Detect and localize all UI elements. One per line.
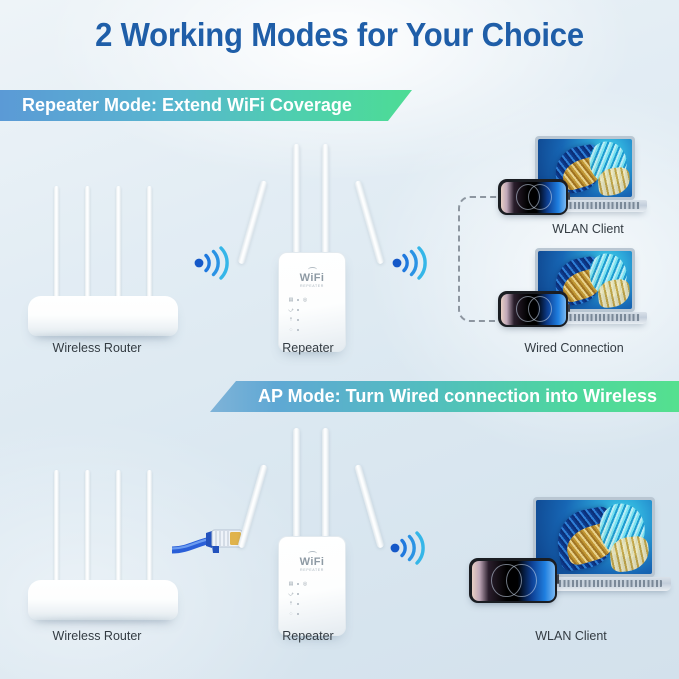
caption-repeater-ap-mode: Repeater: [282, 629, 333, 643]
repeater-mode-banner: Repeater Mode: Extend WiFi Coverage: [0, 90, 412, 121]
wifi-signal-icon: [390, 246, 432, 280]
wifi-extender-icon: WiFi REPEATER ▤◎ ⤻ ⇡ ◌: [255, 144, 367, 329]
led-row: ◌: [288, 327, 308, 333]
repeater-mode-banner-label: Repeater Mode: Extend WiFi Coverage: [22, 95, 352, 115]
phone-icon: [469, 558, 557, 603]
caption-wired-connection: Wired Connection: [524, 341, 623, 355]
router-icon: [28, 186, 178, 321]
caption-wlan-client-ap-mode: WLAN Client: [535, 629, 607, 643]
caption-wireless-router-repeater: Wireless Router: [53, 341, 142, 355]
router-icon: [28, 470, 178, 605]
repeater-logo: WiFi REPEATER: [279, 551, 345, 572]
repeater-led-indicators: ▤◎ ⤻ ⇡ ◌: [288, 581, 308, 621]
ap-mode-banner: AP Mode: Turn Wired connection into Wire…: [210, 381, 679, 412]
page-title: 2 Working Modes for Your Choice: [20, 16, 658, 54]
phone-icon: [498, 291, 568, 327]
repeater-led-indicators: ▤◎ ⤻ ⇡ ◌: [288, 297, 308, 337]
led-row: ⇡: [288, 317, 308, 323]
led-row: ▤◎: [288, 297, 308, 303]
caption-wireless-router-ap: Wireless Router: [53, 629, 142, 643]
led-row: ◌: [288, 611, 308, 617]
led-row: ⇡: [288, 601, 308, 607]
wifi-extender-icon: WiFi REPEATER ▤◎ ⤻ ⇡ ◌: [255, 428, 367, 613]
infographic-canvas: 2 Working Modes for Your Choice Repeater…: [0, 0, 679, 679]
led-row: ▤◎: [288, 581, 308, 587]
ap-mode-banner-label: AP Mode: Turn Wired connection into Wire…: [258, 386, 657, 406]
phone-icon: [498, 179, 568, 215]
led-row: ⤻: [288, 591, 308, 597]
wifi-signal-icon: [388, 531, 430, 565]
repeater-logo: WiFi REPEATER: [279, 267, 345, 288]
led-row: ⤻: [288, 307, 308, 313]
caption-wlan-client-repeater-mode: WLAN Client: [552, 222, 624, 236]
wifi-signal-icon: [192, 246, 234, 280]
caption-repeater-repeater-mode: Repeater: [282, 341, 333, 355]
